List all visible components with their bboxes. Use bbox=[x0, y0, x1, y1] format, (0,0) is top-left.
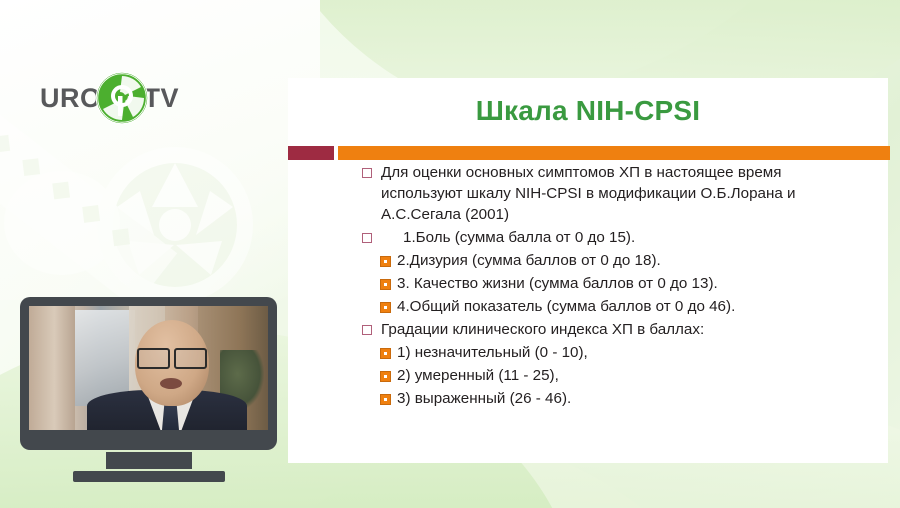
video-curtain-left bbox=[29, 306, 75, 430]
solid-square-bullet-icon bbox=[380, 256, 391, 267]
list-item: 4.Общий показатель (сумма баллов от 0 до… bbox=[380, 296, 882, 317]
accent-bar-red bbox=[288, 146, 334, 160]
solid-square-bullet-icon bbox=[380, 348, 391, 359]
list-item-label: 2) умеренный (11 - 25), bbox=[397, 365, 559, 386]
hollow-square-bullet-icon bbox=[362, 168, 372, 178]
accent-bar-orange bbox=[338, 146, 890, 160]
list-item-label: 2.Дизурия (сумма баллов от 0 до 18). bbox=[397, 250, 661, 271]
list-item-label: 3) выраженный (26 - 46). bbox=[397, 388, 571, 409]
video-speaker-mouth bbox=[160, 378, 182, 389]
speaker-video-monitor[interactable] bbox=[20, 297, 277, 482]
monitor-bezel bbox=[20, 297, 277, 450]
list-item: 1.Боль (сумма балла от 0 до 15). bbox=[362, 227, 882, 248]
list-item: 3) выраженный (26 - 46). bbox=[380, 388, 882, 409]
hollow-square-bullet-icon bbox=[362, 233, 372, 243]
solid-square-bullet-icon bbox=[380, 279, 391, 290]
slide-title: Шкала NIH-CPSI bbox=[288, 95, 888, 127]
speaker-video-frame bbox=[29, 306, 268, 430]
monitor-stand-neck bbox=[106, 452, 192, 469]
list-item-label: Градации клинического индекса ХП в балла… bbox=[381, 319, 704, 340]
video-speaker-glasses bbox=[137, 348, 207, 365]
solid-square-bullet-icon bbox=[380, 302, 391, 313]
list-item: 2) умеренный (11 - 25), bbox=[380, 365, 882, 386]
presentation-slide: URO TV bbox=[0, 0, 900, 508]
logo-text-uro: URO bbox=[40, 83, 102, 114]
video-screen[interactable] bbox=[29, 306, 268, 430]
uro-tv-logo: URO TV bbox=[40, 70, 179, 126]
list-item-label: Для оценки основных симптомов ХП в насто… bbox=[381, 162, 851, 225]
film-reel-watermark bbox=[0, 115, 290, 315]
list-item: 2.Дизурия (сумма баллов от 0 до 18). bbox=[380, 250, 882, 271]
monitor-stand-base bbox=[73, 471, 225, 482]
list-item: Градации клинического индекса ХП в балла… bbox=[362, 319, 882, 340]
list-item-label: 4.Общий показатель (сумма баллов от 0 до… bbox=[397, 296, 735, 317]
solid-square-bullet-icon bbox=[380, 371, 391, 382]
list-item-label: 1) незначительный (0 - 10), bbox=[397, 342, 588, 363]
title-accent-bar bbox=[288, 146, 890, 160]
bullet-list: Для оценки основных симптомов ХП в насто… bbox=[362, 162, 882, 411]
hollow-square-bullet-icon bbox=[362, 325, 372, 335]
uro-tv-emblem-icon bbox=[94, 70, 150, 126]
list-item-label: 1.Боль (сумма балла от 0 до 15). bbox=[381, 227, 635, 248]
list-item-label: 3. Качество жизни (сумма баллов от 0 до … bbox=[397, 273, 718, 294]
solid-square-bullet-icon bbox=[380, 394, 391, 405]
list-item: Для оценки основных симптомов ХП в насто… bbox=[362, 162, 882, 225]
list-item: 3. Качество жизни (сумма баллов от 0 до … bbox=[380, 273, 882, 294]
list-item: 1) незначительный (0 - 10), bbox=[380, 342, 882, 363]
